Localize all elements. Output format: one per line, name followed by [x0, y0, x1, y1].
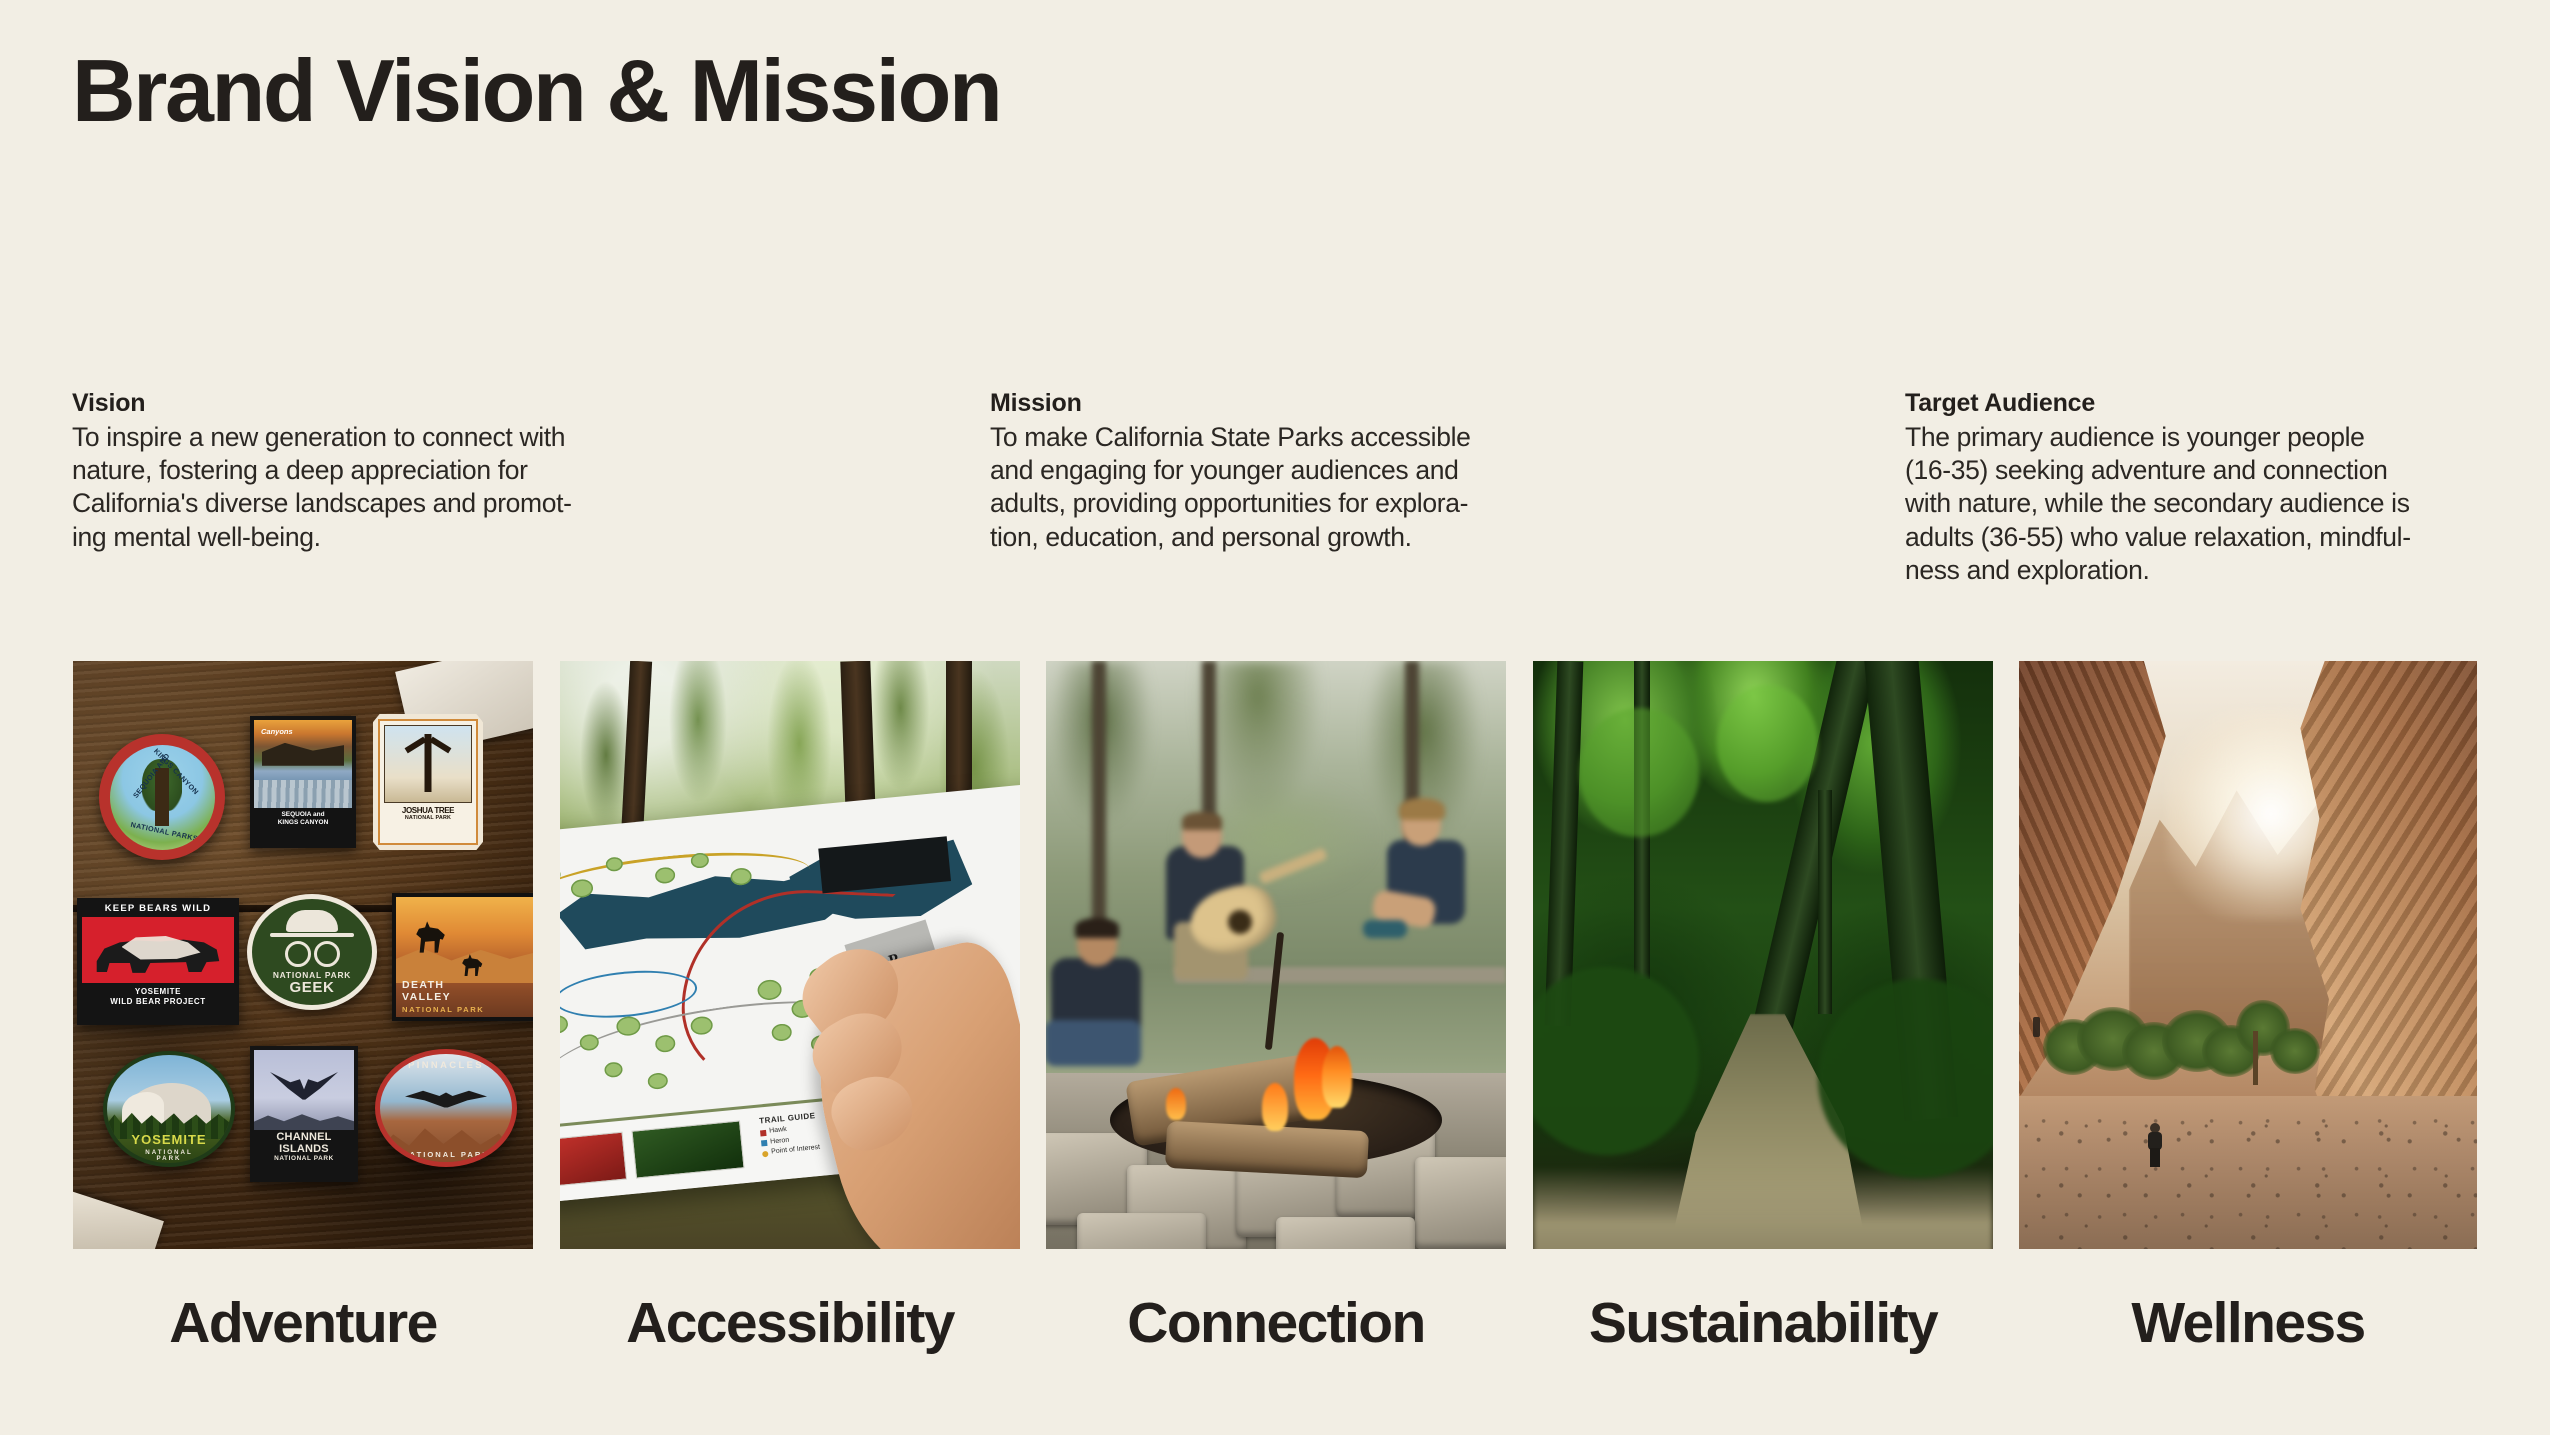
patch-text: SEQUOIA and: [281, 811, 324, 818]
patch-national-park-geek: NATIONAL PARK GEEK: [247, 894, 377, 1010]
patch-death-valley: DEATH VALLEY NATIONAL PARK: [392, 893, 533, 1021]
patch-sequoia-kings-canyon-round: SEQUOIA AND KINGS CANYON NATIONAL PARKS: [99, 734, 225, 860]
patch-text: PINNACLES: [380, 1059, 512, 1070]
mission-body: To make California State Parks accessibl…: [990, 421, 1570, 555]
patch-text: KEEP BEARS WILD: [82, 903, 234, 914]
patch-text: NATIONAL PARK: [254, 1155, 354, 1162]
map-trail-guide-legend: TRAIL GUIDE Hawk Heron Point of Interest: [759, 1110, 821, 1159]
patch-keep-bears-wild: KEEP BEARS WILD YOSEMITE WILD BEAR PROJE…: [77, 898, 239, 1025]
desert-canyon-photo: [2019, 661, 2477, 1249]
mission-heading: Mission: [990, 388, 1570, 420]
patch-text: DEATH: [402, 979, 444, 991]
patch-channel-islands: CHANNEL ISLANDS NATIONAL PARK: [250, 1046, 358, 1182]
patch-text: NATIONAL PARK: [273, 970, 351, 980]
pillar-image-connection: [1046, 661, 1506, 1249]
patch-text: NATIONAL PARK: [402, 1005, 484, 1014]
patch-text: VALLEY: [402, 991, 451, 1003]
patch-yosemite: YOSEMITE NATIONAL PARK: [103, 1051, 235, 1167]
map-photo-thumb: [632, 1120, 745, 1178]
pillar-image-sustainability: [1533, 661, 1993, 1249]
trail-foreground: [1533, 1167, 1993, 1249]
pillar-image-wellness: [2019, 661, 2477, 1249]
vision-body: To inspire a new generation to connect w…: [72, 421, 652, 555]
pillar-caption-accessibility: Accessibility: [560, 1288, 1020, 1358]
patch-joshua-tree: JOSHUA TREE NATIONAL PARK: [373, 714, 483, 850]
target-audience-heading: Target Audience: [1905, 388, 2485, 420]
target-audience-column: Target Audience The primary audience is …: [1905, 388, 2485, 587]
dry-riverbed: [2019, 1096, 2477, 1249]
vision-column: Vision To inspire a new generation to co…: [72, 388, 652, 554]
patch-text: KINGS CANYON: [278, 819, 329, 826]
patch-pinnacles: PINNACLES NATIONAL PARK: [375, 1049, 517, 1167]
vision-mission-text-band: Vision To inspire a new generation to co…: [0, 388, 2550, 608]
person-crouching: [1377, 802, 1497, 972]
distant-hiker-figure: [2033, 1017, 2040, 1037]
person-seated-in-chair: [1051, 920, 1161, 1080]
flame: [1322, 1046, 1352, 1108]
tree-trunk: [1092, 661, 1106, 931]
patch-canyons-sequoia-kings: Canyons SEQUOIA and KINGS CANYON: [250, 716, 356, 848]
pillar-image-row: SEQUOIA AND KINGS CANYON NATIONAL PARKS …: [0, 661, 2550, 1249]
patch-text: ISLANDS: [279, 1143, 329, 1155]
forest-path-photo: [1533, 661, 1993, 1249]
trail-map-photo: P P TRAIL GUIDE Hawk Heron Point of Inte…: [560, 661, 1020, 1249]
flame: [1166, 1088, 1186, 1120]
flame: [1262, 1083, 1288, 1131]
patch-text: YOSEMITE: [107, 1132, 231, 1147]
pillar-caption-wellness: Wellness: [2019, 1288, 2477, 1358]
person-playing-guitar: [1166, 814, 1336, 994]
patch-text: GEEK: [290, 980, 335, 995]
mission-column: Mission To make California State Parks a…: [990, 388, 1570, 554]
patch-text: JOSHUA TREE: [384, 806, 472, 815]
pillar-image-adventure: SEQUOIA AND KINGS CANYON NATIONAL PARKS …: [73, 661, 533, 1249]
patch-text: WILD BEAR PROJECT: [110, 997, 206, 1006]
map-tree-cluster: [560, 1015, 569, 1035]
target-audience-body: The primary audience is younger people (…: [1905, 421, 2485, 588]
patch-text: CHANNEL: [276, 1131, 331, 1143]
patch-text: NATIONAL PARK: [384, 815, 472, 821]
patches-photo: SEQUOIA AND KINGS CANYON NATIONAL PARKS …: [73, 661, 533, 1249]
patch-text: YOSEMITE: [135, 987, 181, 996]
tree-trunk: [1818, 790, 1832, 1013]
patch-text: Canyons: [261, 727, 293, 736]
patch-text: PARK: [107, 1155, 231, 1162]
patch-text: NATIONAL PARK: [380, 1150, 512, 1159]
sunlit-leaves: [1579, 708, 1699, 837]
sunlit-leaves: [1717, 685, 1818, 803]
pillar-image-accessibility: P P TRAIL GUIDE Hawk Heron Point of Inte…: [560, 661, 1020, 1249]
pillar-caption-sustainability: Sustainability: [1533, 1288, 1993, 1358]
pillar-caption-adventure: Adventure: [73, 1288, 533, 1358]
patch-text: NATIONAL PARKS: [129, 819, 198, 842]
pillar-caption-connection: Connection: [1046, 1288, 1506, 1358]
campfire-photo: [1046, 661, 1506, 1249]
hiker-figure: [2147, 1123, 2163, 1167]
map-photo-thumb: [560, 1131, 628, 1186]
vision-heading: Vision: [72, 388, 652, 420]
page-title: Brand Vision & Mission: [72, 47, 1000, 135]
